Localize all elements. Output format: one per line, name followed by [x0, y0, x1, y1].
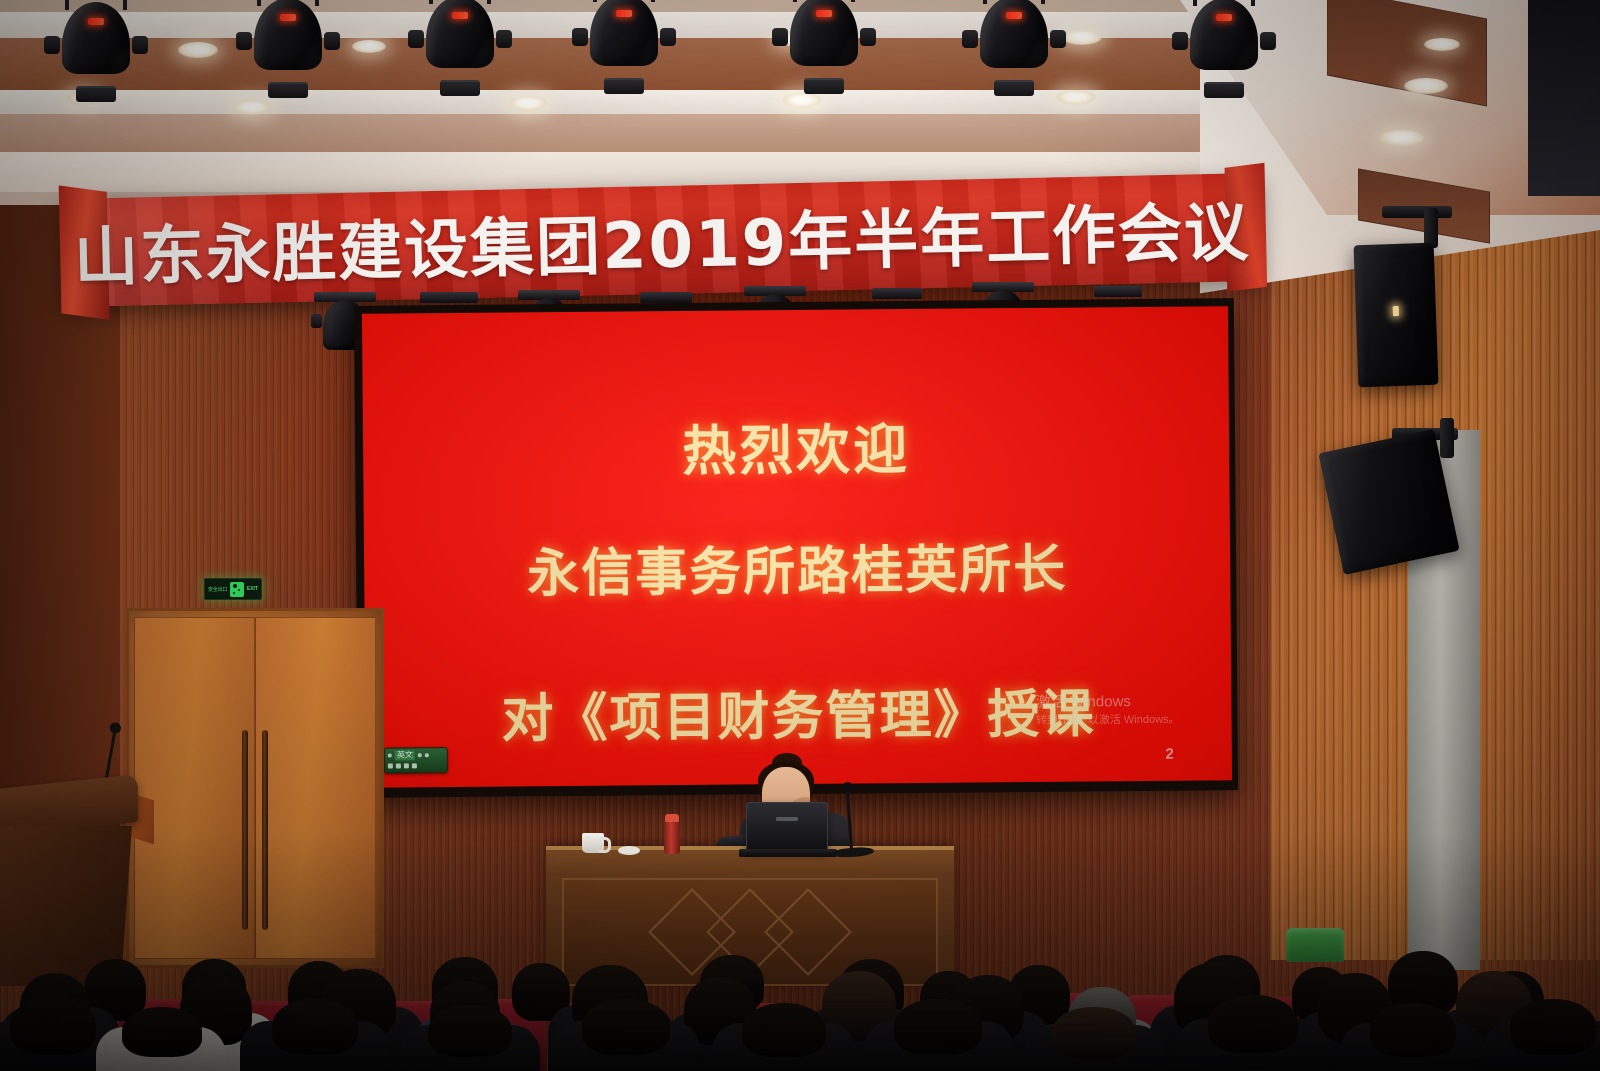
- audience-head: [122, 1007, 202, 1057]
- speaker-led: [1393, 306, 1399, 316]
- ime-language-label[interactable]: 英文: [395, 750, 415, 760]
- stage-light-arm: [660, 28, 676, 46]
- stage-light-body: [590, 0, 658, 66]
- watermark-title: 激活 Windows: [1036, 691, 1180, 714]
- laptop[interactable]: [746, 802, 828, 852]
- stage-light-arm: [1260, 32, 1276, 50]
- stage-light-led: [816, 10, 832, 17]
- running-man-icon: [230, 582, 244, 597]
- stage-light-head: [418, 0, 502, 84]
- stage-light-lens: [440, 80, 480, 96]
- laptop-base: [739, 849, 837, 857]
- stage-light-body: [62, 2, 130, 74]
- speaker-bracket: [1382, 206, 1452, 218]
- stage-light-arm: [772, 28, 788, 46]
- stage-light-led: [1006, 12, 1022, 19]
- stage-light-led: [616, 10, 632, 17]
- stage-light-arm: [324, 32, 340, 50]
- stage-light-arm: [962, 30, 978, 48]
- slide-line-guest: 永信事务所路桂英所长: [527, 527, 1068, 607]
- windows-activation-watermark: 激活 Windows 转到"设置"以激活 Windows。: [1036, 691, 1180, 730]
- slide-line-topic: 对《项目财务管理》授课: [501, 671, 1096, 751]
- watermark-subtitle: 转到"设置"以激活 Windows。: [1036, 713, 1180, 730]
- stage-light-lens: [268, 82, 308, 98]
- hand-icon[interactable]: [388, 763, 393, 768]
- stage-light-led: [88, 18, 104, 25]
- stage-light-body: [980, 0, 1048, 68]
- downlight: [1056, 90, 1096, 105]
- stage-light-arm: [408, 30, 424, 48]
- language-toggle-icon[interactable]: [418, 753, 422, 757]
- light-bar-segment: [640, 292, 692, 303]
- stage-light-lens: [604, 78, 644, 94]
- slide-line-welcome: 热烈欢迎: [682, 405, 911, 486]
- stage-light-led: [280, 14, 296, 21]
- ime-toolbar-row-bottom: [388, 760, 444, 770]
- coffee-mug: [582, 833, 604, 853]
- stage-light-head: [782, 0, 866, 82]
- stage-light-arm: [572, 28, 588, 46]
- downlight: [508, 96, 548, 111]
- audience-head: [428, 1005, 512, 1057]
- audience-head: [1510, 999, 1596, 1055]
- stage-light-arm: [496, 30, 512, 48]
- downlight: [1404, 78, 1448, 94]
- door-handle-icon[interactable]: [242, 730, 248, 930]
- stage-light-lens: [76, 86, 116, 102]
- downlight: [1424, 38, 1460, 51]
- audience-head: [742, 1003, 826, 1057]
- audience-head: [1052, 1007, 1136, 1059]
- exit-sign-label-cn: 安全出口: [208, 586, 227, 593]
- stage-light-led: [1216, 14, 1232, 21]
- audience-head: [1370, 1003, 1456, 1057]
- ime-toolbar[interactable]: 英文: [384, 747, 448, 774]
- audience-head: [582, 999, 670, 1055]
- search-icon[interactable]: [396, 763, 401, 768]
- stage-light-led: [452, 12, 468, 19]
- light-bar-segment: [420, 292, 478, 303]
- led-screen[interactable]: 热烈欢迎 永信事务所路桂英所长 对《项目财务管理》授课 激活 Windows 转…: [362, 306, 1232, 788]
- stage-light-body: [254, 0, 322, 70]
- downlight: [352, 40, 386, 53]
- thermos-cap: [665, 814, 679, 822]
- thermos-bottle: [664, 820, 680, 854]
- stage-light-head: [972, 0, 1056, 84]
- stage-light-body: [790, 0, 858, 66]
- front-light-ear: [311, 314, 322, 328]
- stage-light-lens: [804, 78, 844, 94]
- stage-light-lens: [994, 80, 1034, 96]
- light-bar-segment: [872, 288, 922, 299]
- downlight: [232, 100, 272, 115]
- stage-light-body: [426, 0, 494, 68]
- audience-head: [1208, 995, 1298, 1053]
- audience-head: [272, 999, 358, 1055]
- downlight: [1062, 30, 1102, 45]
- wall-speaker-lower: [1318, 429, 1459, 575]
- conference-hall-photo: 山东永胜建设集团2019年半年工作会议 热烈欢迎 永信事务所路桂英所长: [0, 0, 1600, 1071]
- stage-light-arm: [236, 32, 252, 50]
- stage-light-head: [1182, 0, 1266, 86]
- stage-light-arm: [132, 36, 148, 54]
- stage-light-arm: [44, 36, 60, 54]
- stage-light-head: [582, 0, 666, 82]
- ime-toolbar-row-top: 英文: [388, 750, 444, 760]
- light-bar-segment: [1094, 286, 1142, 297]
- menu-icon[interactable]: [412, 763, 417, 768]
- audience-area: [0, 905, 1600, 1071]
- audience-head: [10, 997, 96, 1055]
- wall-speaker-upper: [1354, 243, 1439, 388]
- keyboard-icon[interactable]: [388, 754, 392, 758]
- stage-light-lens: [1204, 82, 1244, 98]
- ceiling-light-cove-2: [0, 90, 1290, 114]
- stage-light-arm: [1050, 30, 1066, 48]
- stage-light-arm: [860, 28, 876, 46]
- emergency-exit-sign: 安全出口 EXIT: [204, 578, 262, 600]
- exit-sign-label-en: EXIT: [247, 586, 258, 592]
- saucer: [618, 846, 640, 855]
- stage-light-head: [246, 0, 330, 86]
- slide-page-number: 2: [1165, 746, 1173, 763]
- audience-head: [894, 999, 982, 1055]
- door-handle-icon[interactable]: [262, 730, 268, 930]
- stage-light-head: [54, 0, 138, 90]
- downlight: [1380, 130, 1424, 146]
- toolbox-icon[interactable]: [404, 763, 409, 768]
- led-screen-frame: 热烈欢迎 永信事务所路桂英所长 对《项目财务管理》授课 激活 Windows 转…: [354, 298, 1238, 798]
- laptop-logo: [776, 817, 798, 821]
- ceiling-monitor-box: [1528, 0, 1600, 196]
- stage-light-arm: [1172, 32, 1188, 50]
- stage-light-body: [1190, 0, 1258, 70]
- downlight: [782, 93, 822, 108]
- downlight: [178, 42, 218, 58]
- settings-icon[interactable]: [425, 753, 429, 757]
- speaker-arm: [1440, 418, 1454, 458]
